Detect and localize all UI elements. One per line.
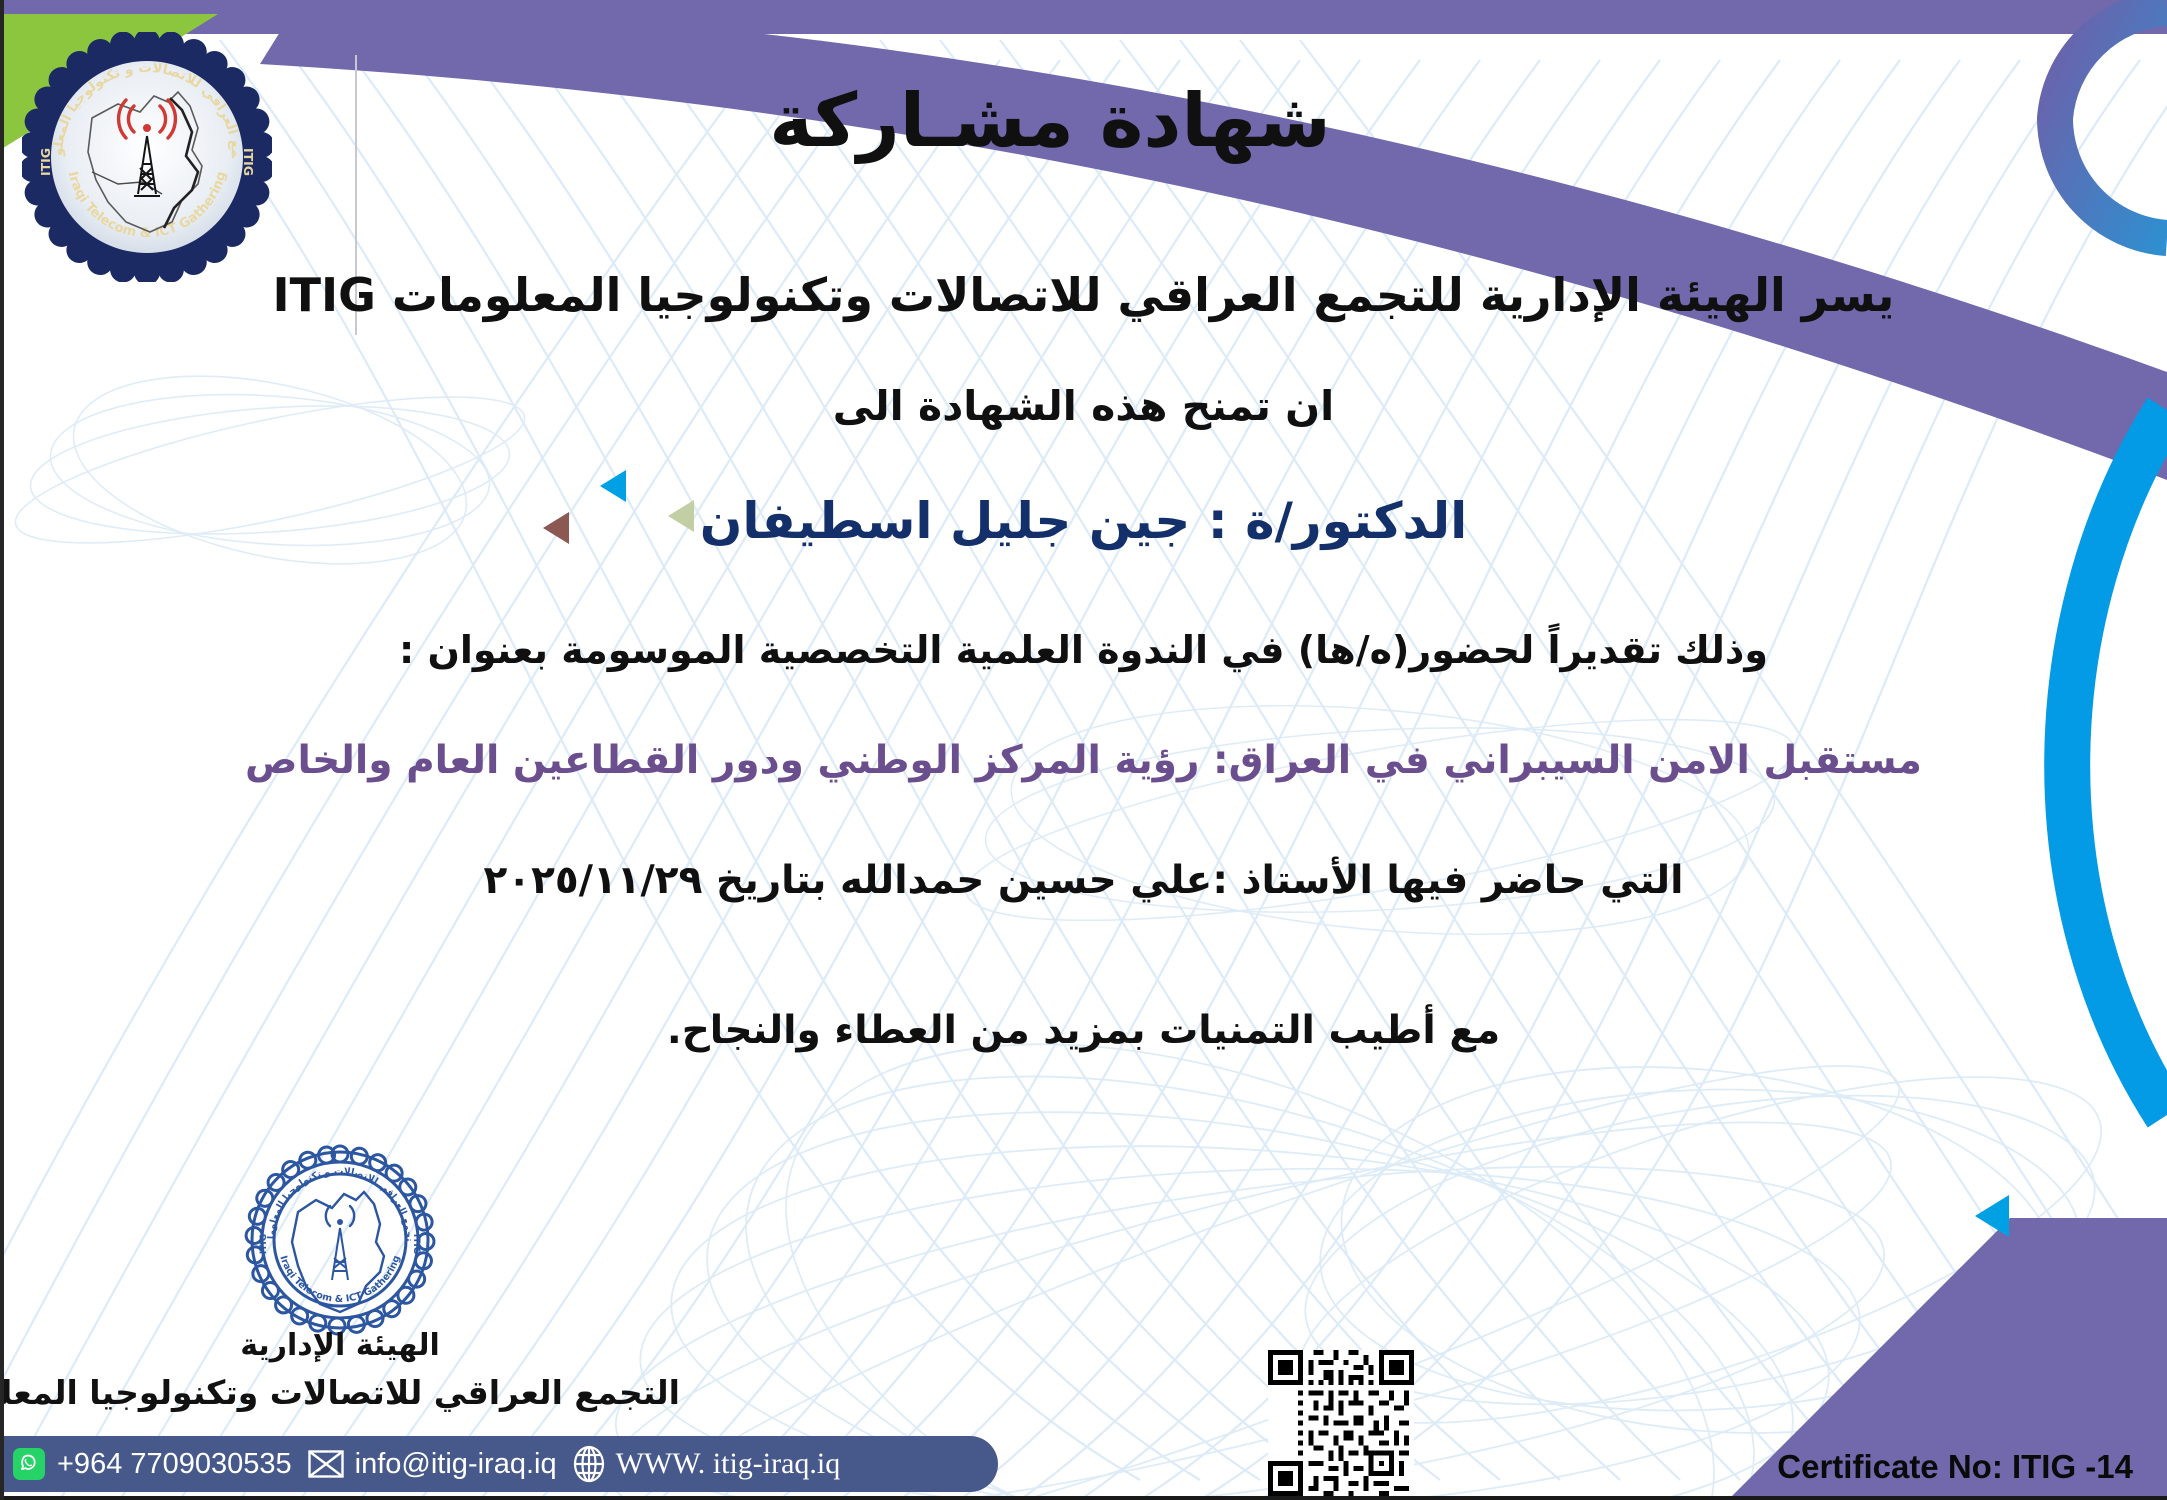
email-address: info@itig-iraq.iq (355, 1448, 557, 1481)
page-left-border (0, 0, 4, 1500)
envelope-icon (308, 1450, 344, 1478)
closing-wish: مع أطيب التمنيات بمزيد من العطاء والنجاح… (0, 1008, 2167, 1053)
lecturer-and-date: التي حاضر فيها الأستاذ :علي حسين حمدالله… (0, 858, 2167, 903)
contact-email[interactable]: info@itig-iraq.iq (308, 1448, 557, 1481)
certificate-page: التجمع العراقي للاتصالات و تكنولوجيا الم… (0, 0, 2167, 1500)
website-url: WWW. itig-iraq.iq (616, 1447, 841, 1481)
globe-icon (573, 1445, 605, 1483)
seminar-topic: مستقبل الامن السيبراني في العراق: رؤية ا… (0, 738, 2167, 783)
recipient-name: الدكتور/ة : جين جليل اسطيفان (0, 492, 2167, 550)
contact-phone[interactable]: +964 7709030535 (12, 1447, 292, 1481)
contact-bar: +964 7709030535 info@itig-iraq.iq WW (0, 1436, 998, 1492)
contact-website[interactable]: WWW. itig-iraq.iq (573, 1445, 841, 1483)
qr-code[interactable] (1268, 1350, 1414, 1496)
grant-line: ان تمنح هذه الشهادة الى (0, 382, 2167, 430)
phone-number: +964 7709030535 (57, 1448, 292, 1481)
signature-organization: التجمع العراقي للاتصالات وتكنولوجيا المع… (0, 1373, 680, 1412)
whatsapp-icon (12, 1447, 46, 1481)
certificate-number: Certificate No: ITIG -14 (1777, 1448, 2133, 1486)
signature-authority: الهيئة الإدارية (0, 1328, 680, 1363)
organization-line: يسر الهيئة الإدارية للتجمع العراقي للاتص… (0, 268, 2167, 322)
certificate-title: شهادة مشـاركة (0, 78, 2100, 164)
reason-line: وذلك تقديراً لحضور(ه/ها) في الندوة العلم… (0, 628, 2167, 672)
page-bottom-border (0, 1496, 2167, 1500)
